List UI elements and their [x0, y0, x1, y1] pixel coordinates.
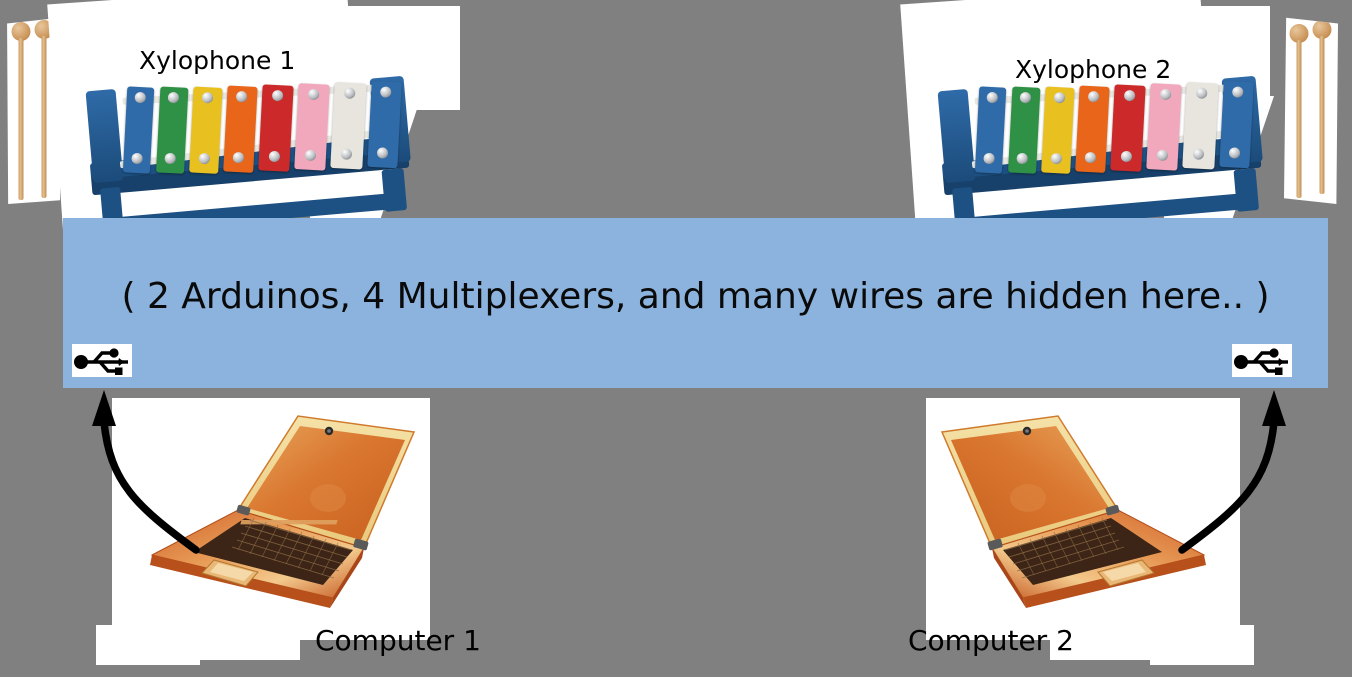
xylo2-bar-6	[1146, 83, 1181, 171]
mallet-left-1	[10, 20, 32, 200]
hidden-electronics-banner: ( 2 Arduinos, 4 Multiplexers, and many w…	[63, 218, 1328, 388]
xylo1-bar-2	[156, 86, 188, 173]
computer-2-photo-backing-extra	[1150, 625, 1254, 665]
arrow-computer-1-to-usb	[76, 386, 206, 556]
arrow-computer-2-to-usb	[1172, 386, 1302, 556]
xylo2-bar-3	[1041, 86, 1074, 173]
xylo2-bar-2	[1008, 86, 1040, 173]
computer-1-label: Computer 1	[315, 624, 481, 657]
xylo1-bar-5	[258, 84, 293, 172]
xylophone-1-label: Xylophone 1	[139, 46, 295, 75]
xylo1-bar-1	[123, 86, 154, 173]
usb-icon-left[interactable]	[72, 344, 132, 377]
banner-text: ( 2 Arduinos, 4 Multiplexers, and many w…	[63, 218, 1328, 388]
computer-2-label: Computer 2	[908, 624, 1074, 657]
xylo2-bar-4	[1075, 85, 1109, 172]
xylo2-bar-8	[1219, 81, 1253, 168]
xylo1-bar-3	[189, 86, 222, 173]
xylophone-2-label: Xylophone 2	[1015, 55, 1171, 84]
xylo1-bar-4	[223, 85, 257, 172]
mallet-right-1	[1288, 22, 1310, 200]
computer-1-photo-backing-extra	[96, 625, 200, 665]
xylo1-bar-6	[294, 83, 329, 171]
diagram-canvas: Xylophone 1 Xylophone 2	[0, 0, 1352, 677]
xylo2-bar-1	[975, 86, 1006, 173]
computer-1-photo-backing-extra2	[200, 638, 300, 660]
xylo1-bar-8	[367, 81, 401, 168]
xylo2-bar-5	[1110, 84, 1145, 172]
mallet-right-2	[1311, 18, 1333, 196]
usb-icon-right[interactable]	[1232, 344, 1292, 377]
xylo1-bar-7	[330, 82, 366, 170]
mallet-pair-right	[1284, 12, 1338, 204]
xylo2-bar-7	[1182, 82, 1218, 170]
